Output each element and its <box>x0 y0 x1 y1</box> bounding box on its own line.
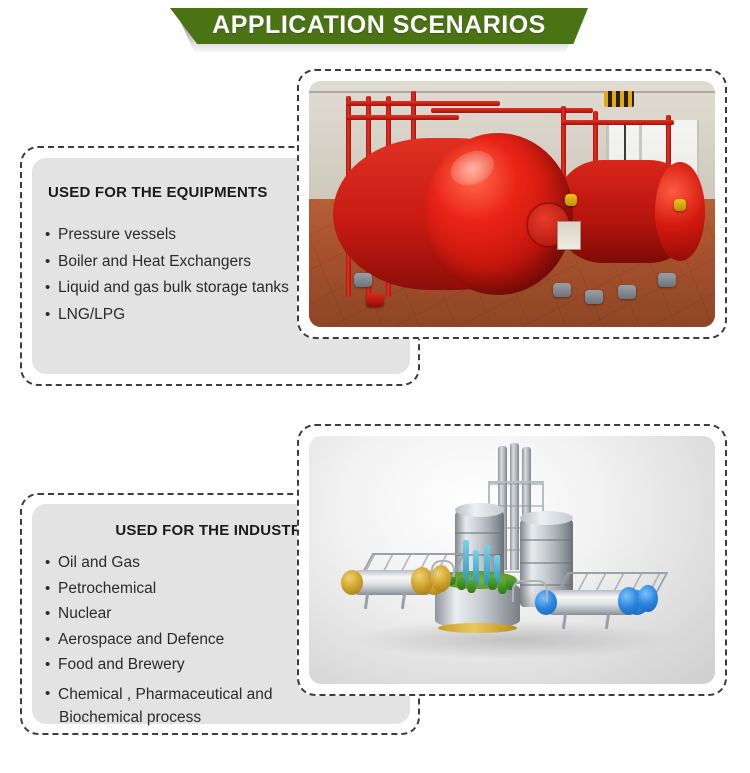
list-item: Pressure vessels <box>45 227 289 243</box>
list-item: Aerospace and Defence <box>45 632 273 648</box>
vessel-head <box>655 162 705 261</box>
gate-valve <box>354 273 372 287</box>
tank-end-cap <box>411 567 433 594</box>
industries-image-card <box>297 424 727 696</box>
tank-end-cap <box>618 587 640 614</box>
actuator-icon <box>674 199 686 211</box>
list-item-line-1: Chemical , Pharmaceutical and <box>58 686 273 703</box>
pipe-header <box>561 120 675 125</box>
tank-leg <box>364 593 369 609</box>
tank-end-cap <box>341 570 363 595</box>
tree-icon <box>488 577 497 590</box>
pipe-header <box>346 115 460 120</box>
gate-valve <box>658 273 676 287</box>
silo-band <box>455 532 504 534</box>
gate-valve <box>618 285 636 299</box>
list-item: Nuclear <box>45 606 273 622</box>
list-item: Food and Brewery <box>45 657 273 673</box>
page-title: APPLICATION SCENARIOS <box>212 13 546 39</box>
list-item: Boiler and Heat Exchangers <box>45 254 289 270</box>
silo-band <box>520 539 573 541</box>
list-item: LNG/LPG <box>45 307 289 323</box>
petrochemical-plant-render <box>309 436 715 684</box>
pipe-header <box>431 108 593 113</box>
gate-valve <box>553 283 571 297</box>
gate-valve <box>585 290 603 304</box>
tree-icon <box>457 577 466 590</box>
actuator-icon <box>565 194 577 206</box>
handwheel-valve <box>366 293 384 307</box>
tank-end-cap <box>638 585 658 612</box>
connecting-pipe <box>512 580 548 602</box>
tree-icon <box>467 580 476 593</box>
list-item: Liquid and gas bulk storage tanks <box>45 280 289 296</box>
connecting-pipe <box>431 560 455 577</box>
list-item-line-2: Biochemical process <box>58 706 273 729</box>
hoist-icon <box>604 91 634 107</box>
industries-list: Oil and Gas Petrochemical Nuclear Aerosp… <box>45 555 273 739</box>
ceiling-beam <box>309 91 715 93</box>
list-item: Petrochemical <box>45 581 273 597</box>
list-item: Chemical , Pharmaceutical and Biochemica… <box>45 683 273 730</box>
mini-column <box>473 550 479 585</box>
equipments-heading: USED FOR THE EQUIPMENTS <box>48 184 268 201</box>
application-scenarios-banner: APPLICATION SCENARIOS <box>170 8 588 46</box>
equipments-image-card <box>297 69 727 339</box>
highlight <box>445 145 499 192</box>
silo-roof <box>520 511 573 525</box>
banner-body: APPLICATION SCENARIOS <box>170 8 588 44</box>
silo-roof <box>455 503 504 517</box>
red-pressure-vessels-photo <box>309 81 715 327</box>
pipe-header <box>346 101 500 106</box>
list-item: Oil and Gas <box>45 555 273 571</box>
equipments-list: Pressure vessels Boiler and Heat Exchang… <box>45 227 289 333</box>
vessel-nameplate <box>557 221 581 250</box>
silo-band <box>520 562 573 564</box>
tank-leg <box>401 593 406 609</box>
